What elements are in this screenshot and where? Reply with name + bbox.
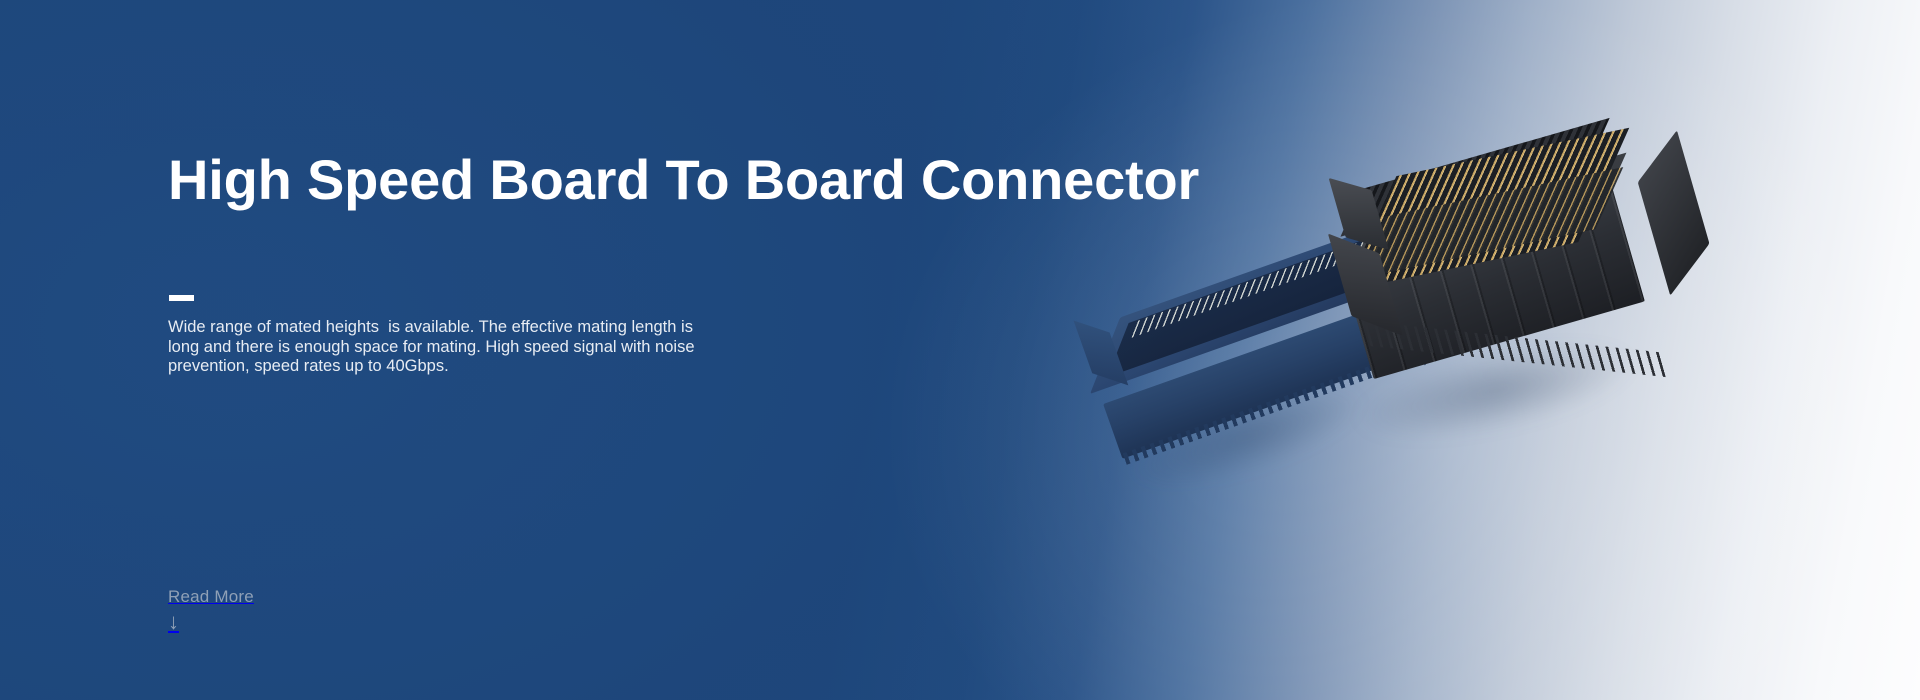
read-more-label: Read More — [168, 586, 368, 607]
hero-banner: High Speed Board To Board Connector Wide… — [0, 0, 1920, 700]
read-more-link[interactable]: Read More ↓ — [168, 586, 368, 634]
accent-rule — [169, 295, 194, 301]
product-image — [1100, 130, 1820, 590]
hero-description: Wide range of mated heights is available… — [168, 318, 708, 377]
arrow-down-icon: ↓ — [168, 610, 368, 634]
board-to-board-header — [1322, 107, 1708, 438]
hero-content: High Speed Board To Board Connector Wide… — [168, 0, 888, 700]
header-right-end-block — [1638, 130, 1710, 295]
page-title: High Speed Board To Board Connector — [168, 148, 988, 212]
